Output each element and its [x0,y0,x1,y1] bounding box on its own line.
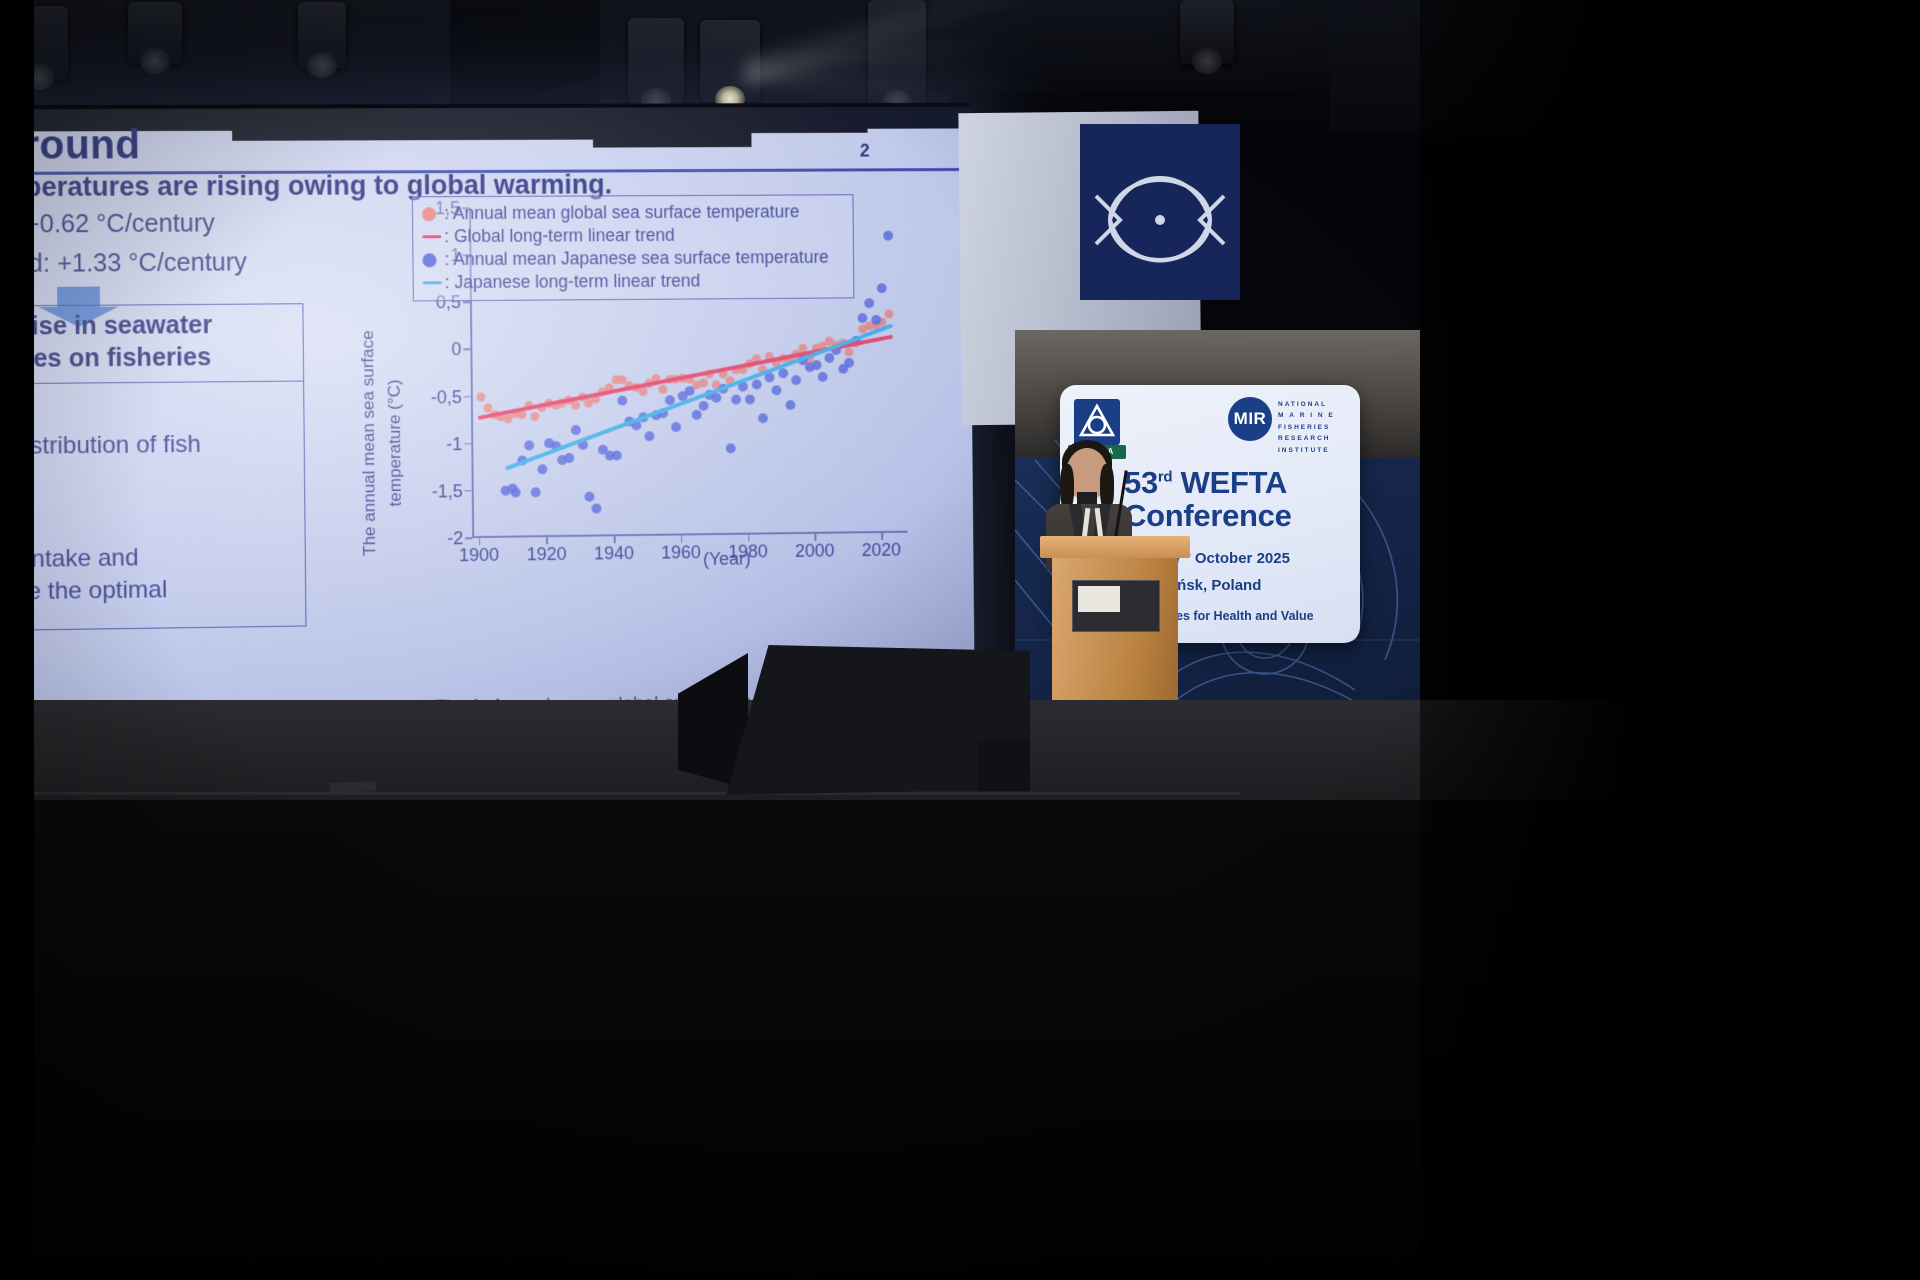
chart-y-tick-mark [464,443,471,445]
chart-data-point [871,315,881,325]
sea-surface-temperature-chart: The annual mean sea surface temperature … [371,198,945,672]
chart-y-tick-mark [463,302,470,304]
chart-y-tick-label: -1,5 [432,481,463,502]
monitor-lip [978,741,1030,791]
chart-data-point [857,313,867,323]
stage-light-3 [298,2,346,68]
chart-data-point [531,412,540,421]
chart-y-axis-label-part1: The annual mean sea surface [358,313,381,574]
chart-data-point [537,464,547,474]
chart-data-point [571,424,581,434]
chart-data-point [745,395,755,405]
chart-data-point [672,422,682,432]
mir-subtext: NATIONALM A R I N EFISHERIESRESEARCHINST… [1278,399,1335,456]
chart-x-tick-label: 1920 [527,544,567,565]
chart-x-tick-label: 2020 [862,540,901,561]
conference-org: WEFTA [1172,465,1287,500]
chart-data-point [732,395,742,405]
chart-data-point [751,380,761,390]
chart-x-tick-label: 1960 [661,542,701,563]
stage-light-5-on [700,20,760,102]
chart-y-tick-mark [463,349,470,351]
lamp-lens-icon [307,52,337,78]
lamp-lens-icon [140,48,170,74]
stage-monitor-speaker [678,645,1030,807]
impact-box-header: t of rise in seawater ratures on fisheri… [0,304,303,385]
stage-floor-seam [0,792,1240,795]
chart-data-point [778,368,788,378]
chart-y-tick-mark [465,490,472,492]
chart-data-point [645,431,655,441]
chart-x-tick-mark [546,537,548,544]
chart-data-point [811,360,821,370]
conference-number-ordinal: rd [1158,469,1172,486]
chart-data-point [791,376,801,386]
mir-logo-icon: MIR [1228,397,1272,441]
legend-label-1: : Global long-term linear trend [444,225,675,247]
chart-data-point [698,401,708,411]
lamp-lens-icon [1192,48,1222,74]
chart-data-point [524,440,534,450]
presentation-slide: ckground 2 er temperatures are rising ow… [0,107,975,729]
chart-data-point [883,231,893,241]
projection-screen: ckground 2 er temperatures are rising ow… [0,107,975,729]
chart-y-tick-mark [464,396,471,398]
chart-x-tick-mark [881,533,883,540]
chart-x-tick-mark [748,535,750,542]
chart-data-point [877,283,887,293]
chart-data-point [571,401,580,410]
chart-data-point [845,348,854,357]
chart-data-point [692,410,702,420]
stage-light-6 [868,0,926,106]
chart-data-point [476,392,485,401]
chart-data-point [864,298,874,308]
chart-data-point [511,487,521,497]
stage-light-2 [128,2,182,64]
chart-y-tick-label: -1 [446,433,462,454]
slide-page-number: 2 [860,141,870,162]
chart-data-point [758,413,768,423]
legend-item-3: : Japanese long-term linear trend [423,269,845,295]
chart-x-tick-mark [614,536,616,543]
conference-photo-scene: ckground 2 er temperatures are rising ow… [0,0,1920,1280]
chart-x-axis-label: (Year) [703,549,751,570]
chart-y-tick-label: 0 [451,339,461,360]
chart-data-point [725,444,735,454]
chart-x-tick-label: 1900 [459,545,499,567]
chart-data-point [611,450,621,460]
chart-x-tick-label: 1940 [594,543,634,564]
chart-data-point [658,385,667,394]
right-dark-area [1420,0,1920,1280]
chart-y-tick-mark [465,537,472,539]
chart-data-point [685,386,695,396]
floor-marker [330,781,376,793]
wefta-fish-emblem-icon [1080,124,1240,300]
date-month-year: October 2025 [1191,550,1290,567]
chart-data-point [618,396,628,406]
chart-y-tick-label: -0,5 [431,386,462,407]
chart-data-point [592,503,602,513]
chart-data-point [585,492,595,502]
chart-legend: : Annual mean global sea surface tempera… [412,194,855,301]
stage-light-4 [628,18,684,104]
lighting-truss-far-right [930,0,1350,92]
chart-data-point [711,393,721,403]
stage-light-7 [1180,0,1234,64]
left-dark-border [0,0,34,1280]
chart-data-point [885,310,894,319]
legend-item-2: : Annual mean Japanese sea surface tempe… [422,246,844,271]
legend-label-3: : Japanese long-term linear trend [445,271,701,294]
chart-data-point [772,385,782,395]
legend-line-icon [423,281,445,285]
japanese-trend-text: ese trend: +1.33 °C/century [0,248,247,279]
lectern-paper [1078,586,1120,612]
chart-data-point [531,487,541,497]
legend-item-0: : Annual mean global sea surface tempera… [422,200,844,225]
chart-data-point [564,453,574,463]
chart-x-tick-mark [479,538,481,545]
chart-data-point [785,400,795,410]
legend-line-icon [422,235,444,239]
chart-x-axis [472,531,907,538]
legend-label-2: : Annual mean Japanese sea surface tempe… [444,247,828,270]
chart-data-point [845,358,855,368]
chart-x-tick-mark [815,534,817,541]
chart-data-point [818,372,828,382]
legend-item-1: : Global long-term linear trend [422,223,844,248]
lectern-top [1040,536,1190,558]
legend-label-0: : Annual mean global sea surface tempera… [444,201,800,224]
chart-data-point [698,379,707,388]
chart-y-axis-label-part2: temperature (°C) [384,313,407,574]
chart-trend-line [505,324,893,471]
chart-x-tick-label: 2000 [795,541,835,562]
chart-x-tick-mark [681,535,683,542]
flag-emblem-panel [1080,124,1240,300]
legend-circle-icon [422,253,444,267]
legend-circle-icon [422,207,444,221]
